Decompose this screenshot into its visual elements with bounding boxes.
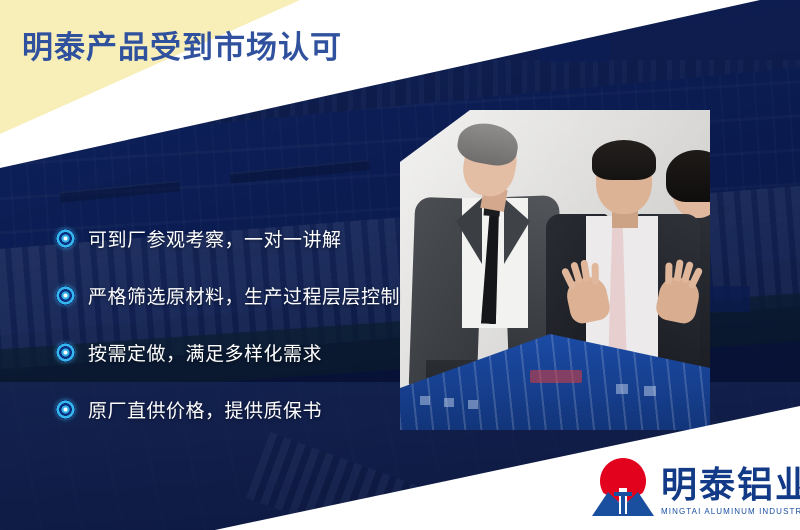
list-item[interactable]: 按需定做，满足多样化需求 bbox=[56, 324, 416, 381]
logo-name-en: MINGTAI ALUMINUM INDUSTRY CO., LTD bbox=[661, 507, 800, 516]
list-item[interactable]: 严格筛选原材料，生产过程层层控制 bbox=[56, 267, 416, 324]
page-title: 明泰产品受到市场认可 bbox=[22, 22, 342, 67]
list-item[interactable]: 原厂直供价格，提供质保书 bbox=[56, 381, 416, 438]
target-ring-icon bbox=[56, 229, 75, 248]
hair bbox=[592, 140, 656, 180]
bullet-text: 按需定做，满足多样化需求 bbox=[88, 339, 322, 366]
target-ring-icon bbox=[56, 400, 75, 419]
factory-window bbox=[644, 386, 656, 396]
company-logo[interactable]: 明泰铝业 MINGTAI ALUMINUM INDUSTRY CO., LTD bbox=[592, 458, 800, 516]
business-people-photo bbox=[400, 110, 710, 430]
logo-name-cn: 明泰铝业 bbox=[661, 467, 800, 505]
promo-banner: 明泰产品受到市场认可 bbox=[0, 0, 800, 530]
target-ring-icon bbox=[56, 286, 75, 305]
list-item[interactable]: 可到厂参观考察，一对一讲解 bbox=[56, 210, 416, 267]
factory-window bbox=[444, 398, 454, 407]
factory-window bbox=[468, 400, 478, 409]
feature-bullet-list: 可到厂参观考察，一对一讲解 严格筛选原材料，生产过程层层控制 按需定做，满足多样… bbox=[56, 210, 416, 438]
factory-window bbox=[420, 396, 430, 405]
target-ring-icon bbox=[56, 343, 75, 362]
finger bbox=[592, 263, 599, 285]
factory-signage bbox=[530, 370, 582, 383]
finger bbox=[665, 262, 672, 284]
logo-mark-icon bbox=[592, 458, 654, 516]
bullet-text: 严格筛选原材料，生产过程层层控制 bbox=[88, 282, 400, 309]
logo-crossbar bbox=[614, 492, 632, 496]
bullet-text: 原厂直供价格，提供质保书 bbox=[88, 396, 322, 423]
bullet-text: 可到厂参观考察，一对一讲解 bbox=[88, 225, 342, 252]
logo-text-block: 明泰铝业 MINGTAI ALUMINUM INDUSTRY CO., LTD bbox=[661, 467, 800, 516]
factory-window bbox=[616, 384, 628, 394]
